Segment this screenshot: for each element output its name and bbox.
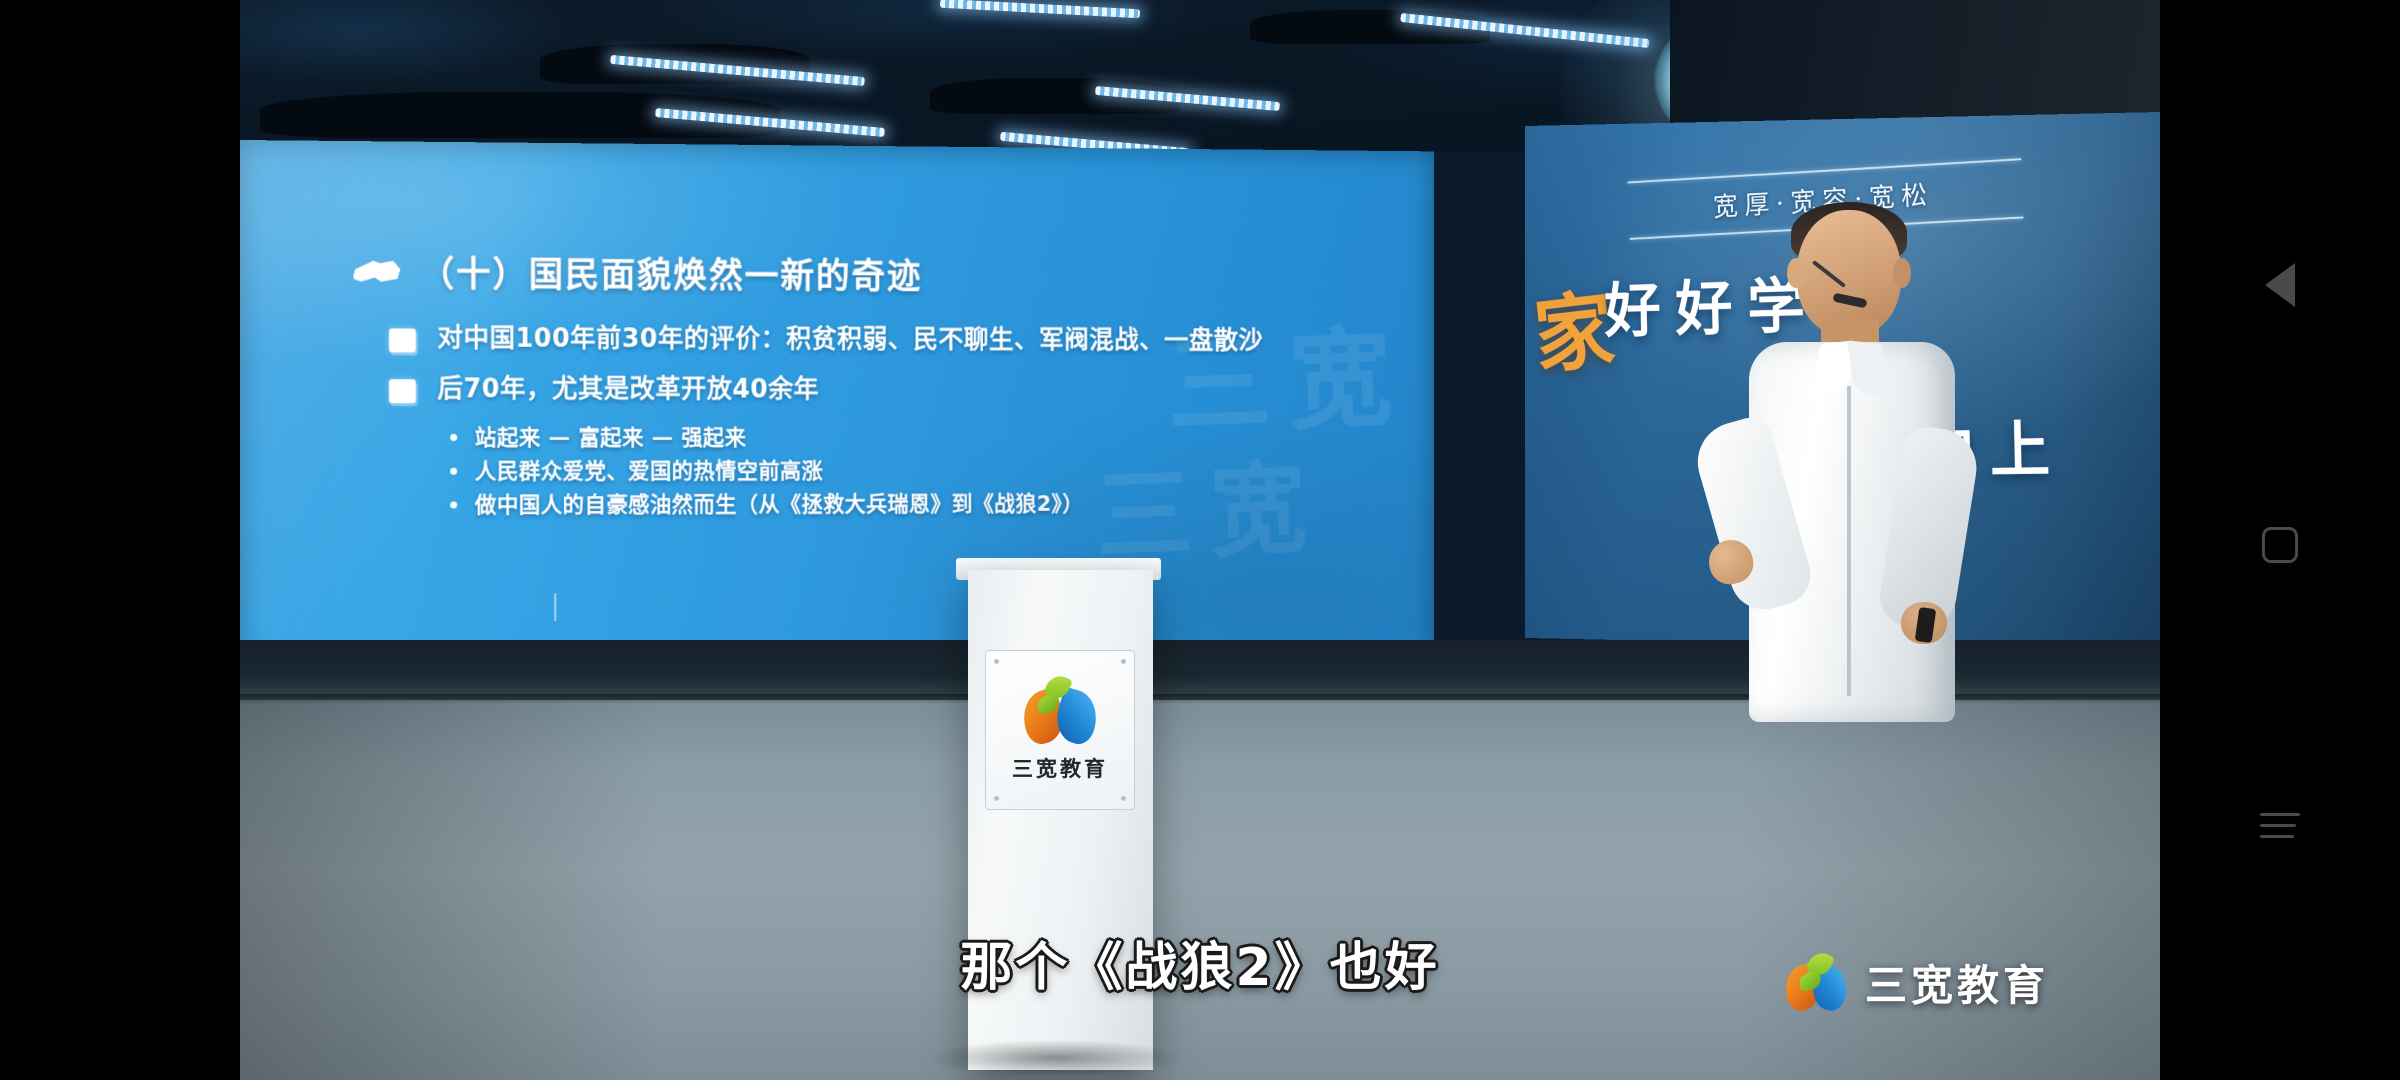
video-player: 宽厚·宽容·宽松 家 好好学习 ·天天向上 三宽 三宽 （十）国民面貌焕然一新的… — [0, 0, 2400, 1080]
plate-screw — [994, 796, 999, 801]
sanguan-swirl-logo-icon — [1785, 954, 1847, 1012]
android-navigation-bar — [2160, 0, 2400, 1080]
slide-title-text: （十）国民面貌焕然一新的奇迹 — [420, 246, 923, 299]
shirt-placket — [1847, 386, 1851, 696]
presentation-screen: 三宽 三宽 （十）国民面貌焕然一新的奇迹 对中国100年前30年的评价：积贫积弱… — [240, 140, 1434, 720]
slide-sub-bullet-item: 人民群众爱党、爱国的热情空前高涨 — [450, 455, 1420, 490]
dot-bullet-icon — [450, 468, 457, 475]
dot-bullet-icon — [450, 434, 457, 441]
hamburger-recents-icon — [2260, 805, 2300, 846]
podium-logo-plate: 三宽教育 — [985, 650, 1135, 810]
nav-back-button[interactable] — [2160, 230, 2400, 340]
slide-sub-bullet-text: 人民群众爱党、爱国的热情空前高涨 — [475, 456, 823, 490]
channel-watermark-text: 三宽教育 — [1865, 952, 2049, 1013]
plate-screw — [1121, 659, 1126, 664]
speaker-figure — [1705, 210, 2005, 770]
square-home-icon — [2262, 527, 2298, 563]
podium-shadow — [930, 1040, 1180, 1076]
plate-screw — [1121, 796, 1126, 801]
slide-content: （十）国民面貌焕然一新的奇迹 对中国100年前30年的评价：积贫积弱、民不聊生、… — [240, 140, 1434, 720]
slide-sub-bullet-text: 做中国人的自豪感油然而生（从《拯救大兵瑞恩》到《战狼2》） — [475, 488, 1084, 523]
nav-home-button[interactable] — [2160, 490, 2400, 600]
slide-sub-bullet-item: 做中国人的自豪感油然而生（从《拯救大兵瑞恩》到《战狼2》） — [450, 488, 1420, 524]
slide-bullet-group: 后70年，尤其是改革开放40余年 站起来 — 富起来 — 强起来 人民群众爱党、… — [389, 371, 1420, 523]
slide-bullet-text: 对中国100年前30年的评价：积贫积弱、民不聊生、军阀混战、一盘散沙 — [437, 321, 1263, 360]
video-frame[interactable]: 宽厚·宽容·宽松 家 好好学习 ·天天向上 三宽 三宽 （十）国民面貌焕然一新的… — [240, 0, 2160, 1080]
sanguan-swirl-logo-icon — [1023, 677, 1097, 747]
triangle-back-icon — [2265, 263, 2295, 307]
double-diamond-bullet-icon — [354, 260, 400, 282]
slide-sub-bullet-text: 站起来 — 富起来 — 强起来 — [475, 422, 746, 456]
dot-bullet-icon — [450, 501, 457, 508]
slide-title-row: （十）国民面貌焕然一新的奇迹 — [354, 246, 922, 299]
speaker-head — [1797, 210, 1901, 336]
slide-bullet-item: 对中国100年前30年的评价：积贫积弱、民不聊生、军阀混战、一盘散沙 — [389, 321, 1420, 360]
slide-bullet-item: 后70年，尤其是改革开放40余年 — [389, 371, 1420, 409]
speaker-ear-left — [1787, 258, 1805, 288]
channel-watermark-logo: 三宽教育 — [1785, 952, 2049, 1013]
podium-logo-text: 三宽教育 — [1012, 753, 1108, 783]
nav-recents-button[interactable] — [2160, 770, 2400, 880]
white-square-bullet-icon — [389, 379, 416, 403]
slide-text-caret — [554, 593, 556, 621]
slide-sub-bullet-item: 站起来 — 富起来 — 强起来 — [450, 422, 1420, 456]
slide-bullet-text: 后70年，尤其是改革开放40余年 — [437, 371, 819, 408]
speaker-ear-right — [1893, 258, 1911, 288]
plate-screw — [994, 659, 999, 664]
slide-sub-bullet-list: 站起来 — 富起来 — 强起来 人民群众爱党、爱国的热情空前高涨 做中国人的自豪… — [450, 422, 1420, 523]
white-square-bullet-icon — [389, 328, 416, 352]
slide-bullet-list: 对中国100年前30年的评价：积贫积弱、民不聊生、军阀混战、一盘散沙 后70年，… — [389, 321, 1420, 524]
